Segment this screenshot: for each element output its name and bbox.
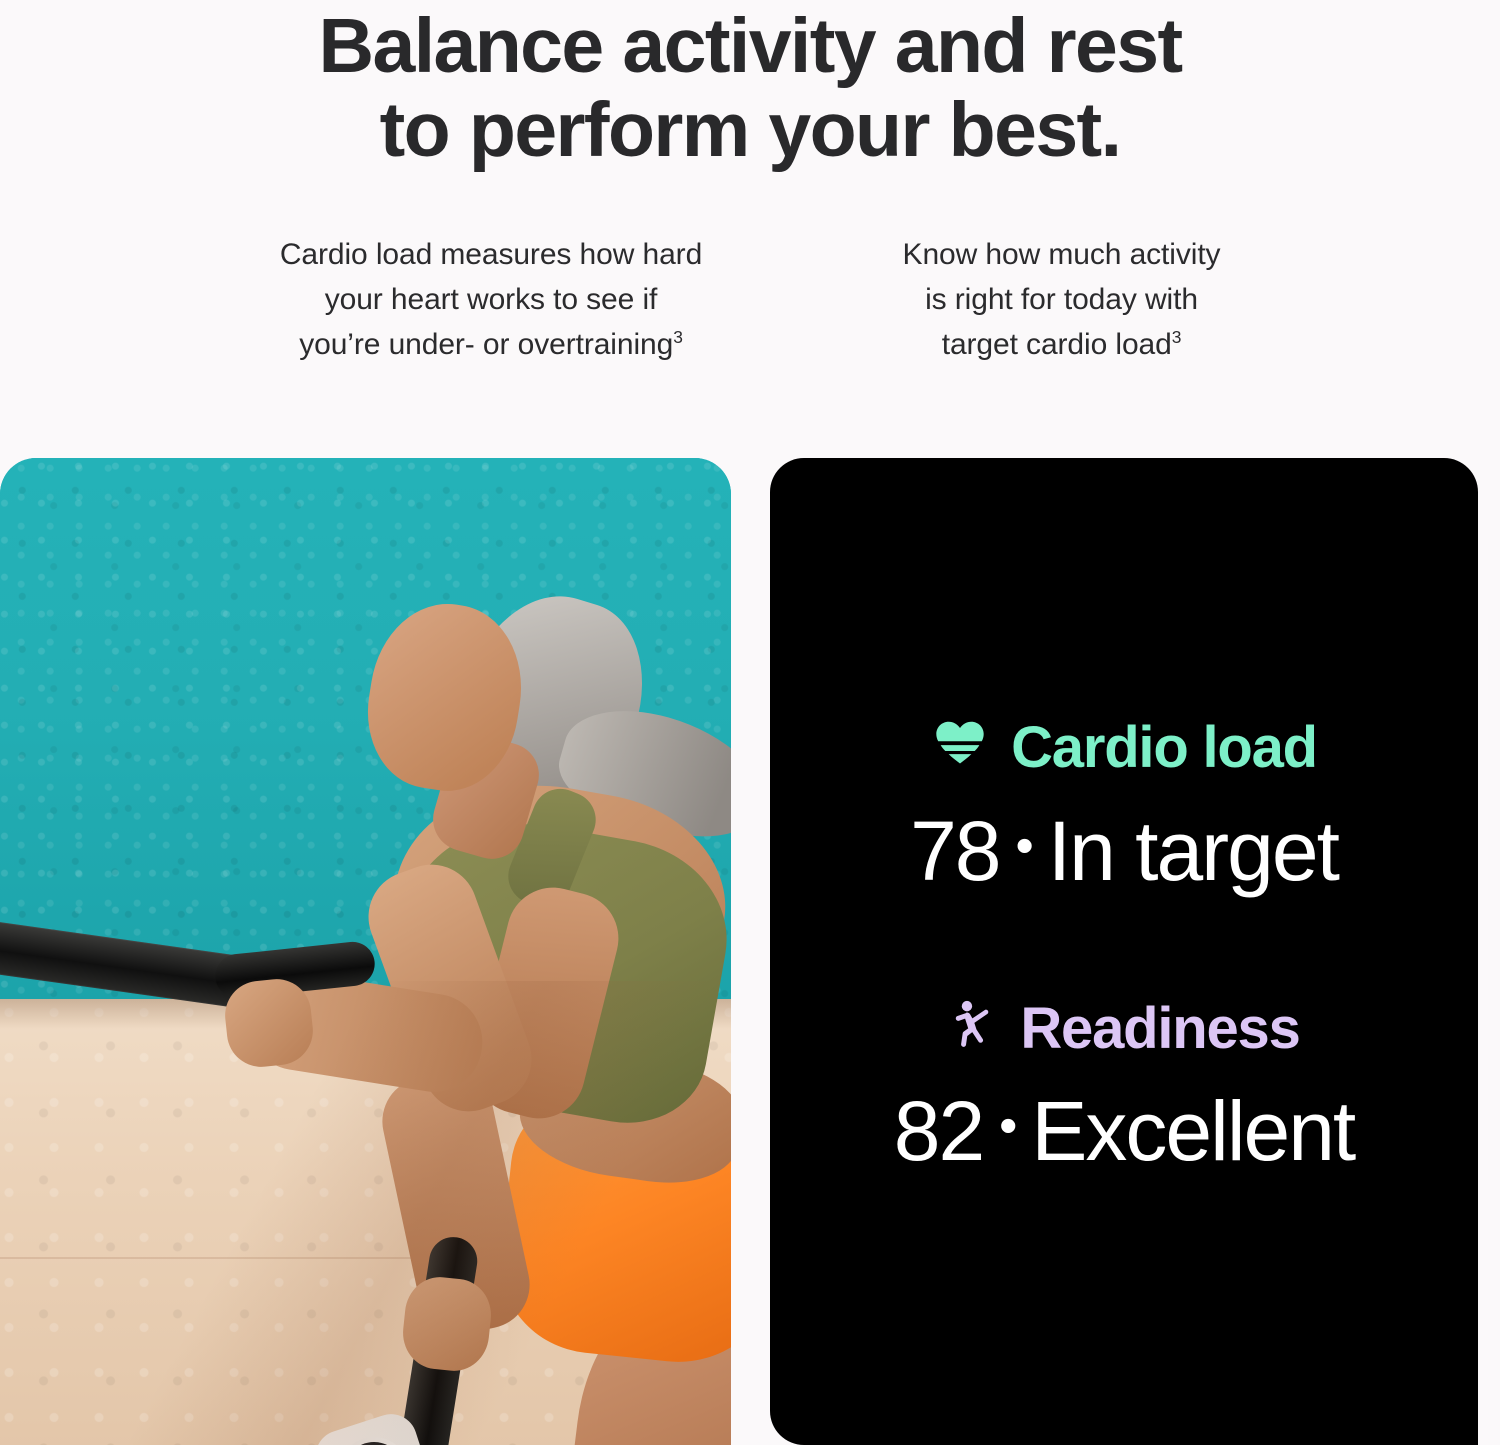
metric-cardio-load-header: Cardio load xyxy=(806,713,1442,783)
description-column-target-load: Know how much activity is right for toda… xyxy=(862,232,1262,367)
active-person-icon xyxy=(948,995,998,1063)
copy-right-line-3-text: target cardio load xyxy=(942,328,1172,361)
metric-cardio-load-value: 78 xyxy=(910,805,999,897)
cards-row: Cardio load 78 • In target xyxy=(0,458,1500,1445)
metric-cardio-load: Cardio load 78 • In target xyxy=(806,713,1442,897)
metric-cardio-load-status: In target xyxy=(1048,805,1338,897)
metric-readiness-label: Readiness xyxy=(1020,998,1299,1060)
copy-left-line-3-text: you’re under- or overtraining xyxy=(299,328,673,361)
copy-left-line-3: you’re under- or overtraining3 xyxy=(239,322,744,367)
metric-cardio-load-value-row: 78 • In target xyxy=(806,805,1442,897)
metrics-card: Cardio load 78 • In target xyxy=(770,458,1478,1445)
metric-readiness-status: Excellent xyxy=(1031,1085,1354,1177)
page-title: Balance activity and rest to perform you… xyxy=(0,4,1500,172)
footnote-marker-left: 3 xyxy=(673,327,683,347)
metric-cardio-load-label: Cardio load xyxy=(1011,717,1317,779)
metric-readiness-header: Readiness xyxy=(806,995,1442,1063)
promo-page: Balance activity and rest to perform you… xyxy=(0,0,1500,1445)
metric-readiness-value: 82 xyxy=(894,1085,983,1177)
metric-readiness-value-row: 82 • Excellent xyxy=(806,1085,1442,1177)
metric-readiness: Readiness 82 • Excellent xyxy=(806,995,1442,1177)
headline-line-1: Balance activity and rest xyxy=(318,3,1181,89)
description-columns: Cardio load measures how hard your heart… xyxy=(0,232,1500,367)
copy-left-line-2: your heart works to see if xyxy=(239,277,744,322)
metric-readiness-separator: • xyxy=(999,1100,1015,1152)
footnote-marker-right: 3 xyxy=(1172,327,1182,347)
metric-cardio-load-separator: • xyxy=(1016,820,1032,872)
copy-left-line-1: Cardio load measures how hard xyxy=(239,232,744,277)
copy-right-line-2: is right for today with xyxy=(862,277,1262,322)
description-column-cardio-load: Cardio load measures how hard your heart… xyxy=(239,232,744,367)
lifestyle-photo xyxy=(0,458,731,1445)
copy-right-line-3: target cardio load3 xyxy=(862,322,1262,367)
headline-line-2: to perform your best. xyxy=(0,88,1500,172)
copy-right-line-1: Know how much activity xyxy=(862,232,1262,277)
sliced-heart-icon xyxy=(931,713,989,783)
